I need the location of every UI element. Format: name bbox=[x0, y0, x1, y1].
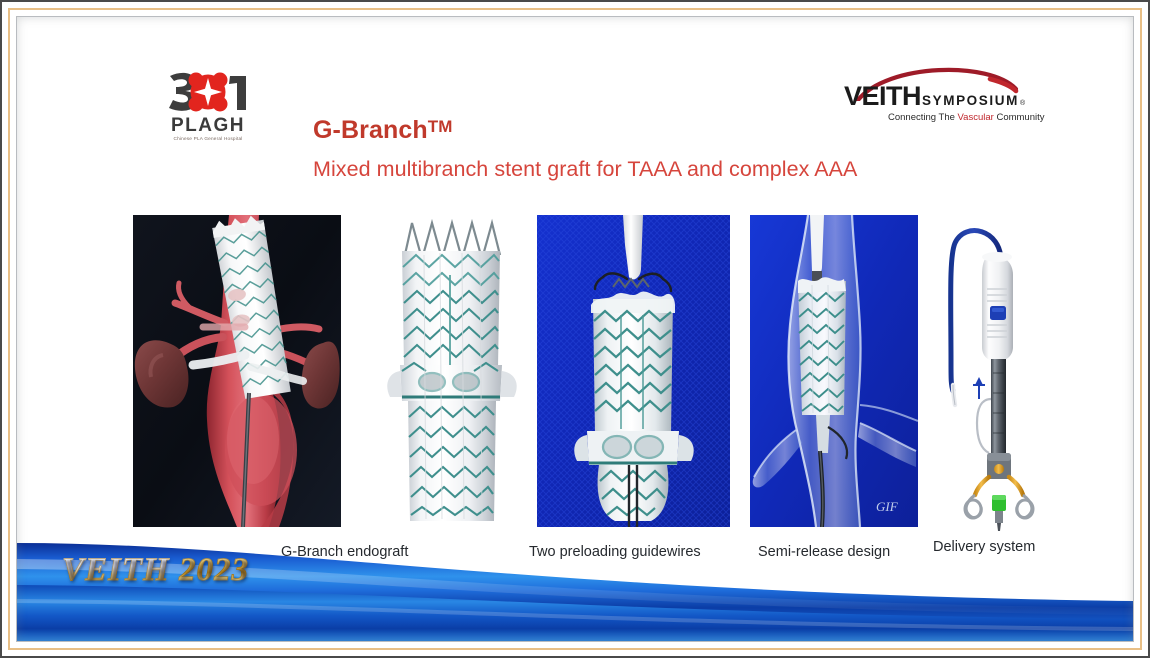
delivery-system-graphic bbox=[935, 213, 1063, 533]
veith-tagline-accent: Vascular bbox=[958, 112, 994, 123]
plagh-wordmark: PLAGH bbox=[160, 116, 256, 135]
veith-wordmark-row: VEITH SYMPOSIUM ® bbox=[844, 83, 1025, 110]
phantom-watermark: GIF bbox=[876, 499, 899, 514]
preloading-guidewires-graphic bbox=[537, 215, 730, 527]
veith-symposium-word: SYMPOSIUM bbox=[922, 94, 1019, 108]
footer-brand: VEITH 2023 bbox=[62, 552, 249, 589]
plagh-301-graphic bbox=[160, 69, 256, 115]
veith-registered-mark: ® bbox=[1020, 100, 1025, 107]
veith-tagline-before: Connecting The bbox=[888, 112, 958, 123]
trademark-mark: TM bbox=[428, 117, 453, 136]
plagh-subtext: Chinese PLA General Hospital bbox=[159, 135, 257, 142]
footer-brand-spacer bbox=[170, 552, 179, 588]
veith-wordmark: VEITH bbox=[844, 83, 921, 110]
aorta-illustration-graphic bbox=[133, 215, 341, 527]
footer-brand-year: 2023 bbox=[179, 552, 249, 588]
figure-g-branch-endograft bbox=[133, 215, 341, 527]
caption-two-preloading-guidewires: Two preloading guidewires bbox=[529, 544, 701, 560]
page-subtitle: Mixed multibranch stent graft for TAAA a… bbox=[313, 157, 857, 182]
slide-canvas: VEITH 2023 bbox=[17, 17, 1133, 641]
plagh-301-mark bbox=[160, 69, 256, 115]
phantom-model-graphic: GIF bbox=[750, 215, 918, 527]
footer-brand-word: VEITH bbox=[62, 552, 170, 588]
stent-graft-graphic bbox=[374, 215, 529, 527]
figure-semi-release-design: GIF bbox=[750, 215, 918, 527]
figure-two-preloading-guidewires bbox=[537, 215, 730, 527]
veith-symposium-logo: VEITH SYMPOSIUM ® Connecting The Vascula… bbox=[840, 67, 1055, 129]
caption-delivery-system: Delivery system bbox=[933, 539, 1035, 555]
caption-semi-release-design: Semi-release design bbox=[758, 544, 890, 560]
veith-tagline: Connecting The Vascular Community bbox=[888, 112, 1045, 123]
plagh-logo: PLAGH Chinese PLA General Hospital bbox=[160, 69, 256, 147]
veith-tagline-after: Community bbox=[994, 112, 1045, 123]
figure-bare-stent-graft bbox=[374, 215, 529, 527]
caption-g-branch-endograft: G-Branch endograft bbox=[281, 544, 408, 560]
slide-root: VEITH 2023 bbox=[0, 0, 1150, 658]
figure-delivery-system bbox=[935, 213, 1063, 533]
page-title-text: G-Branch bbox=[313, 116, 428, 144]
page-title: G-BranchTM bbox=[313, 116, 452, 145]
